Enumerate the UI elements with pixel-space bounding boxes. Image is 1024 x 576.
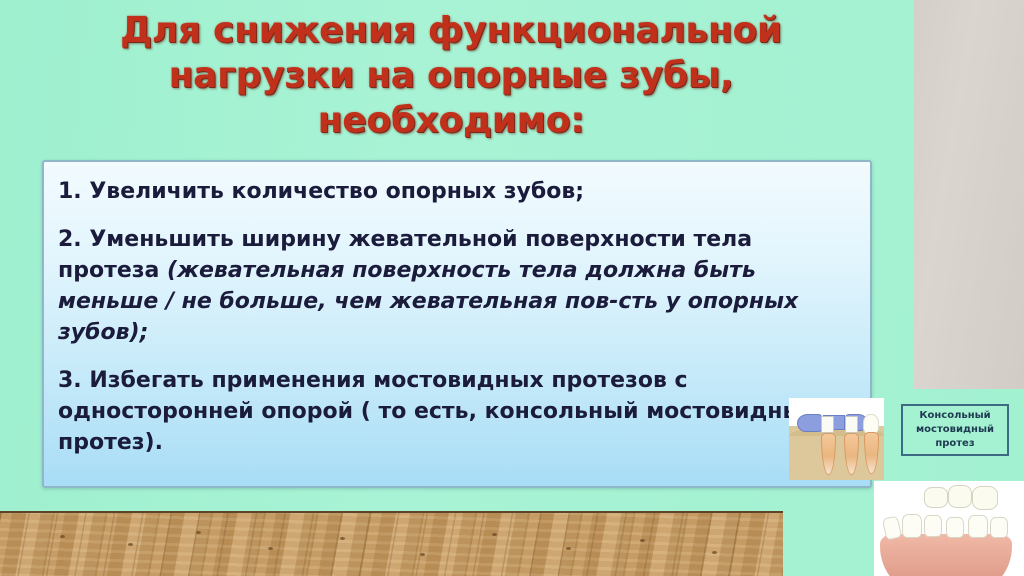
presentation-slide: Для снижения функциональной нагрузки на … [0, 0, 1024, 576]
decorative-gray-panel [914, 0, 1024, 389]
crown-restoration-top [972, 486, 998, 510]
wood-knot [128, 543, 133, 546]
list-item-note: (жевательная поверхность тела должна быт… [58, 258, 798, 345]
list-item-number: 1. [58, 179, 82, 204]
list-item-number: 3. [58, 368, 82, 393]
wood-knot [268, 547, 273, 550]
arch-tooth [968, 515, 988, 538]
title-line-1: Для снижения функциональной [86, 8, 816, 53]
abutment-crown [821, 416, 834, 433]
list-item: 3. Избегать применения мостовидных проте… [58, 365, 848, 458]
wood-knot [566, 547, 571, 550]
crown-restoration-top [948, 485, 972, 508]
wood-knot [420, 553, 425, 556]
figure-caption: Консольный мостовидный протез [901, 404, 1009, 456]
bridge-cross-section-image [789, 398, 884, 480]
crown-restoration-top [924, 487, 948, 508]
prepared-abutment [946, 517, 964, 538]
content-panel: 1. Увеличить количество опорных зубов; 2… [42, 160, 872, 488]
gum-arch [880, 534, 1012, 576]
dental-arch-image [874, 481, 1024, 576]
wood-knot [712, 551, 717, 554]
title-line-3: необходимо: [86, 98, 816, 143]
slide-title: Для снижения функциональной нагрузки на … [86, 8, 816, 143]
arch-tooth [882, 516, 902, 541]
abutment-crown [845, 416, 858, 433]
list-item: 1. Увеличить количество опорных зубов; [58, 176, 848, 207]
title-line-2: нагрузки на опорные зубы, [86, 53, 816, 98]
list-item-text: Увеличить количество опорных зубов; [89, 179, 584, 204]
arch-tooth [990, 517, 1008, 538]
wood-knot [492, 533, 497, 536]
decorative-wood-floor [0, 511, 783, 576]
wood-knot [196, 531, 201, 534]
list-item-text: Избегать применения мостовидных протезов… [58, 368, 818, 455]
list-item: 2. Уменьшить ширину жевательной поверхно… [58, 224, 848, 348]
list-item-number: 2. [58, 227, 82, 252]
pontic-element [797, 414, 823, 432]
wood-knot [340, 537, 345, 540]
wood-grain-texture [0, 513, 783, 576]
arch-tooth [902, 514, 922, 538]
wood-knot [640, 539, 645, 542]
wood-knot [60, 535, 65, 538]
prepared-abutment [924, 515, 942, 537]
natural-tooth-crown [863, 414, 879, 434]
